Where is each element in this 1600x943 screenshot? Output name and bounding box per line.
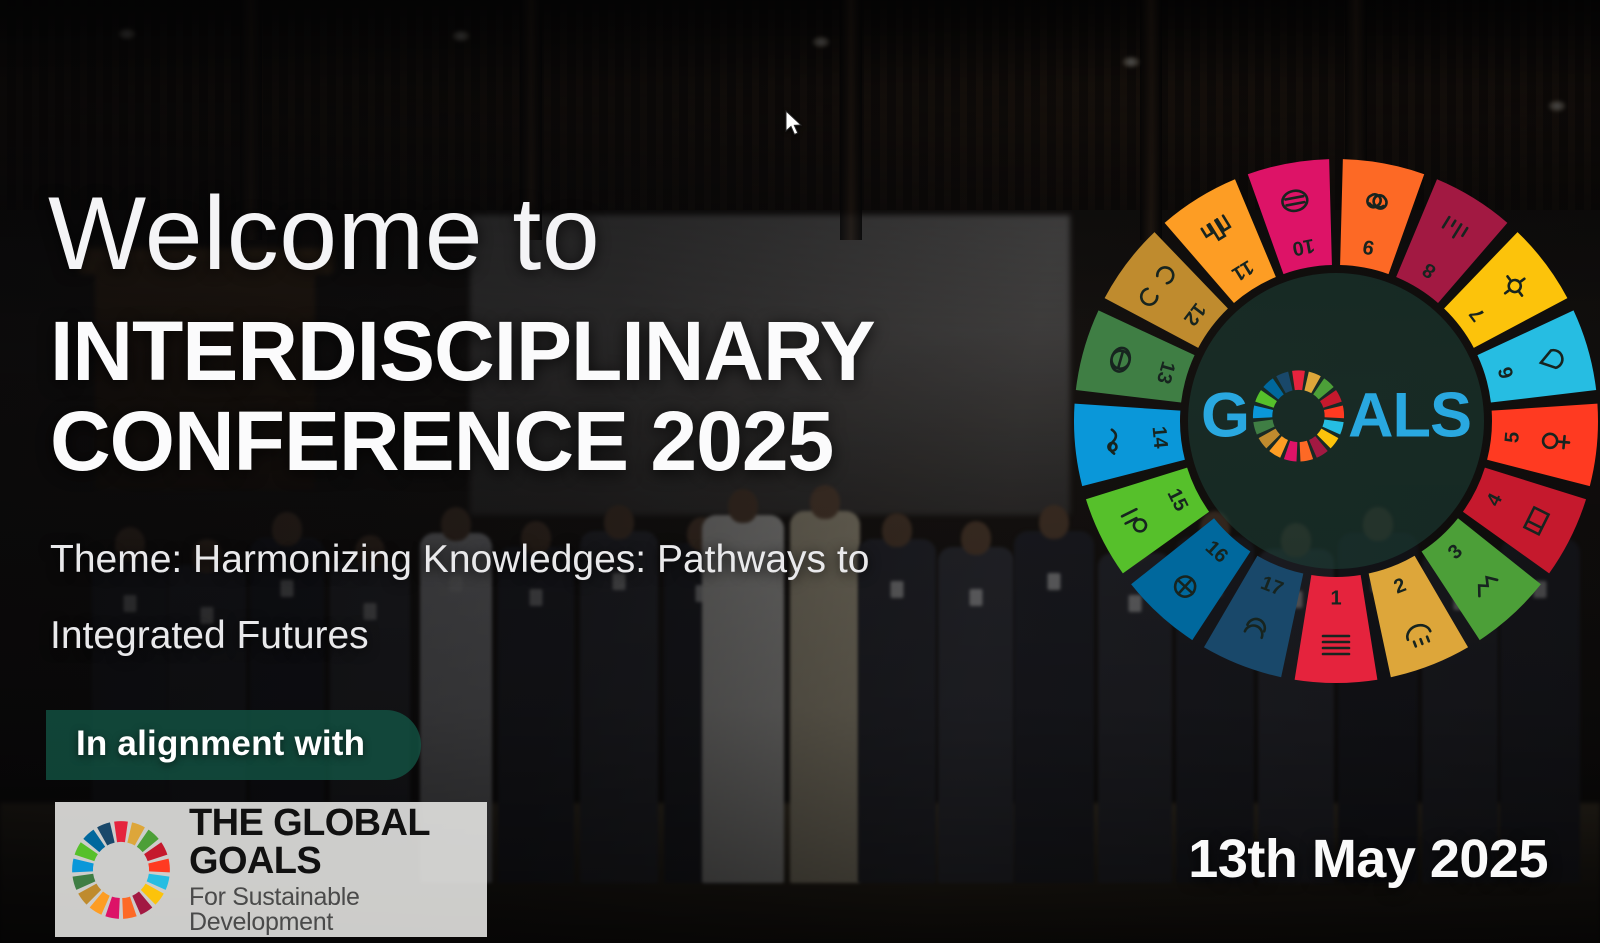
goals-letter-g: G	[1201, 384, 1249, 447]
goals-letters-als: ALS	[1348, 384, 1471, 447]
goals-wordmark: G ALS	[1201, 368, 1471, 465]
sdg-segment-number: 14	[1147, 425, 1171, 450]
conference-title-line-2: CONFERENCE 2025	[50, 398, 833, 485]
conference-title-line-1: INTERDISCIPLINARY	[50, 308, 875, 395]
sdg-segment-number: 1	[1330, 587, 1341, 609]
event-date: 13th May 2025	[1188, 828, 1548, 890]
sdg-goals-wheel: 1234567891011121314151617 G ALS	[1066, 136, 1600, 696]
sdg-color-wheel-icon	[69, 818, 173, 922]
conference-theme: Theme: Harmonizing Knowledges: Pathways …	[50, 522, 1040, 674]
welcome-heading: Welcome to	[48, 182, 600, 286]
ring-segment-1	[114, 821, 128, 842]
alignment-badge: In alignment with	[46, 710, 421, 780]
global-goals-title: THE GLOBAL GOALS	[189, 804, 487, 880]
sdg-segment-number: 10	[1290, 234, 1316, 260]
ring-segment-5	[148, 858, 170, 872]
ring-segment-14	[1253, 405, 1273, 418]
sdg-ring-icon	[1250, 368, 1347, 465]
ring-segment-1	[1292, 370, 1305, 390]
presentation-slide: Welcome to INTERDISCIPLINARY CONFERENCE …	[0, 0, 1600, 943]
ring-segment-14	[72, 858, 94, 872]
mouse-cursor-icon	[784, 110, 804, 138]
global-goals-subtitle: For Sustainable Development	[189, 885, 487, 935]
global-goals-logo: THE GLOBAL GOALS For Sustainable Develop…	[55, 802, 487, 937]
sdg-segment-number: 5	[1501, 431, 1524, 444]
ring-segment-5	[1324, 405, 1344, 418]
